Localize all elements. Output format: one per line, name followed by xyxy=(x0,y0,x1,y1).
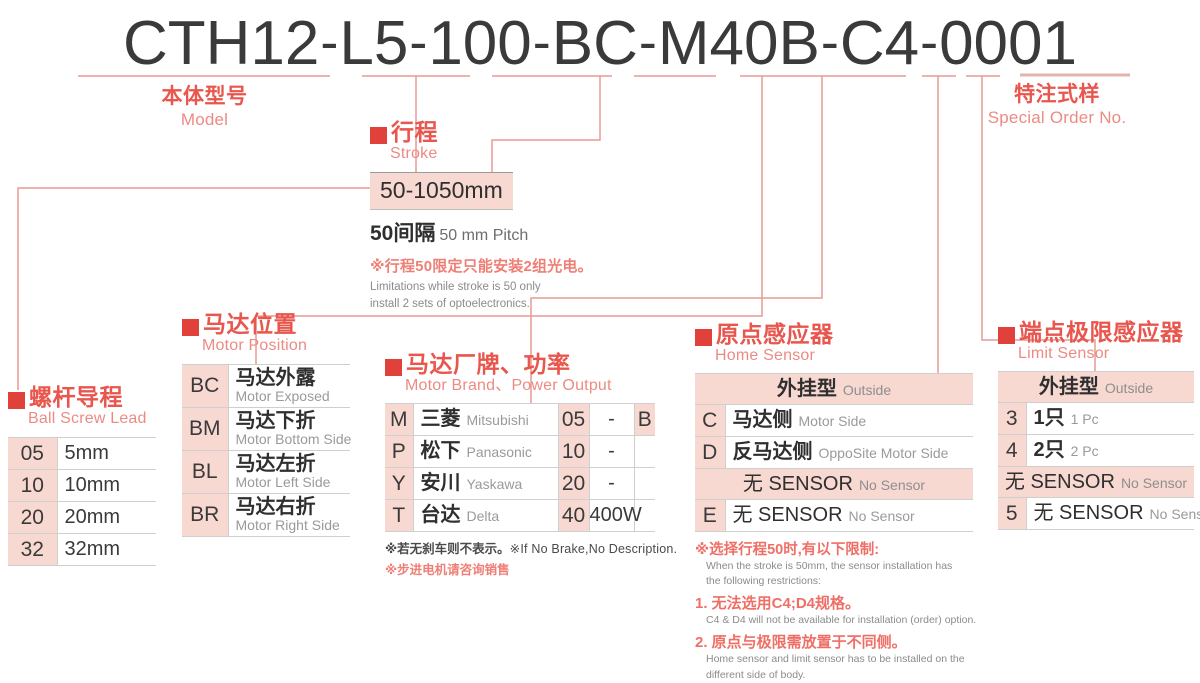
power-value-cell: - xyxy=(589,467,634,499)
brand-code-cell: M xyxy=(385,403,413,435)
section-stroke: 行程 Stroke 50-1050mm 50间隔50 mm Pitch ※行程5… xyxy=(370,120,593,314)
table-row: P 松下Panasonic 10 - xyxy=(385,435,655,467)
limit-sensor-code-cell: 4 xyxy=(998,434,1026,466)
limit-sensor-code-cell: 5 xyxy=(998,497,1026,529)
motor-position-table: BC 马达外露 Motor Exposed BM 马达下折 Motor Bott… xyxy=(182,364,350,537)
group-label-en: Outside xyxy=(1105,380,1153,396)
code-token-stroke: 100 xyxy=(428,9,531,78)
bullet-square-icon xyxy=(385,359,402,376)
brand-code-cell: T xyxy=(385,499,413,531)
section-motor-brand-title-en: Motor Brand、Power Output xyxy=(405,377,677,395)
motor-brand-footnote-1: ※若无刹车则不表示。※If No Brake,No Description. xyxy=(385,538,677,557)
table-row: BL 马达左折 Motor Left Side xyxy=(182,450,350,493)
lead-code-cell: 20 xyxy=(8,501,57,533)
section-motor-brand-heading: 马达厂牌、功率 xyxy=(385,352,677,376)
section-ball-screw-lead: 螺杆导程 Ball Screw Lead 05 5mm 10 10mm 20 2… xyxy=(8,385,156,566)
section-home-sensor-title-cn: 原点感应器 xyxy=(716,322,834,346)
table-row-group-header: 无 SENSORNo Sensor xyxy=(695,468,973,499)
code-separator: - xyxy=(820,12,840,72)
code-separator: - xyxy=(638,12,658,72)
table-row: 4 2只2 Pc xyxy=(998,434,1194,466)
group-label-cn: 无 SENSOR xyxy=(1005,471,1115,493)
group-label-en: No Sensor xyxy=(859,477,925,493)
power-value-cell: - xyxy=(589,435,634,467)
brand-name-cell: 松下Panasonic xyxy=(413,435,558,467)
limit-sensor-value-cell: 1只1 Pc xyxy=(1026,402,1194,434)
code-separator: - xyxy=(319,12,339,72)
lead-value-cell: 10mm xyxy=(57,469,156,501)
section-home-sensor-title-en: Home Sensor xyxy=(715,347,976,365)
limit-sensor-table: 外挂型Outside 3 1只1 Pc 4 2只2 Pc 无 SENSORNo … xyxy=(998,371,1194,530)
section-stroke-title-en: Stroke xyxy=(390,145,593,163)
stroke-note-cn: ※行程50限定只能安装2组光电。 xyxy=(370,255,593,276)
table-row-group-header: 外挂型Outside xyxy=(695,373,973,404)
code-separator: - xyxy=(919,12,939,72)
section-motor-position-title-cn: 马达位置 xyxy=(203,312,297,336)
motor-brand-footnote-2: ※步进电机请咨询销售 xyxy=(385,559,677,578)
section-limit-sensor-title-en: Limit Sensor xyxy=(1018,345,1194,363)
brand-name-cell: 三菱Mitsubishi xyxy=(413,403,558,435)
table-row: M 三菱Mitsubishi 05 - B xyxy=(385,403,655,435)
home-sensor-restriction-2-en-1: Home sensor and limit sensor has to be i… xyxy=(695,652,976,668)
lead-value-cell: 20mm xyxy=(57,501,156,533)
home-sensor-code-cell: D xyxy=(695,436,725,468)
bullet-square-icon xyxy=(998,327,1015,344)
power-code-cell: 10 xyxy=(558,435,589,467)
lead-code-cell: 32 xyxy=(8,533,57,565)
group-label-cn: 外挂型 xyxy=(777,378,837,400)
limit-sensor-group-nosensor: 无 SENSORNo Sensor xyxy=(998,466,1194,497)
power-code-cell: 20 xyxy=(558,467,589,499)
stroke-pitch-cn: 50间隔 xyxy=(370,222,435,245)
motor-position-code-cell: BR xyxy=(182,493,228,536)
section-motor-brand-title-cn: 马达厂牌、功率 xyxy=(406,352,571,376)
code-token-model: CTH12 xyxy=(123,9,319,78)
brand-name-cell: 台达Delta xyxy=(413,499,558,531)
code-token-lead: L5 xyxy=(339,9,408,78)
table-row: BR 马达右折 Motor Right Side xyxy=(182,493,350,536)
home-sensor-restriction-title-cn: ※选择行程50时,有以下限制: xyxy=(695,538,976,559)
home-sensor-restriction-2-cn: 2. 原点与极限需放置于不同侧。 xyxy=(695,631,976,652)
section-home-sensor: 原点感应器 Home Sensor 外挂型Outside C 马达侧Motor … xyxy=(695,322,976,683)
home-sensor-value-cell: 马达侧Motor Side xyxy=(725,404,973,436)
brand-code-cell: Y xyxy=(385,467,413,499)
lead-code-cell: 05 xyxy=(8,437,57,469)
brake-code-cell xyxy=(634,435,655,467)
lead-value-cell: 32mm xyxy=(57,533,156,565)
stroke-note-en-1: Limitations while stroke is 50 only xyxy=(370,279,593,297)
limit-sensor-code-cell: 3 xyxy=(998,402,1026,434)
code-separator: - xyxy=(408,12,428,72)
table-row: Y 安川Yaskawa 20 - xyxy=(385,467,655,499)
section-limit-sensor: 端点极限感应器 Limit Sensor 外挂型Outside 3 1只1 Pc xyxy=(998,320,1194,530)
lead-code-cell: 10 xyxy=(8,469,57,501)
code-token-motor-position: BC xyxy=(552,9,638,78)
ball-screw-lead-table: 05 5mm 10 10mm 20 20mm 32 32mm xyxy=(8,437,156,566)
stroke-note-en-2: install 2 sets of optoelectronics. xyxy=(370,296,593,314)
brake-code-cell xyxy=(634,467,655,499)
power-value-cell: 400W xyxy=(589,499,634,531)
table-row: T 台达Delta 40 400W xyxy=(385,499,655,531)
group-label-en: No Sensor xyxy=(1121,475,1187,491)
group-label-en: Outside xyxy=(843,382,891,398)
stroke-range-box: 50-1050mm xyxy=(370,172,593,210)
table-row: 20 20mm xyxy=(8,501,156,533)
table-row: E 无 SENSORNo Sensor xyxy=(695,499,973,531)
table-row: BC 马达外露 Motor Exposed xyxy=(182,364,350,407)
home-sensor-code-cell: E xyxy=(695,499,725,531)
section-stroke-title-cn: 行程 xyxy=(391,120,438,144)
motor-position-code-cell: BC xyxy=(182,364,228,407)
bullet-square-icon xyxy=(8,392,25,409)
table-row: C 马达侧Motor Side xyxy=(695,404,973,436)
table-row: D 反马达侧OppoSite Motor Side xyxy=(695,436,973,468)
callout-model-cn: 本体型号 xyxy=(112,86,297,108)
home-sensor-restriction-1-cn: 1. 无法选用C4;D4规格。 xyxy=(695,592,976,613)
motor-position-code-cell: BM xyxy=(182,407,228,450)
motor-position-value-cell: 马达右折 Motor Right Side xyxy=(228,493,350,536)
bullet-square-icon xyxy=(695,329,712,346)
section-motor-position-title-en: Motor Position xyxy=(202,337,350,355)
stroke-pitch: 50间隔50 mm Pitch xyxy=(370,217,593,247)
brake-code-cell: B xyxy=(634,403,655,435)
callout-special-order-cn: 特注式样 xyxy=(962,84,1152,106)
lead-value-cell: 5mm xyxy=(57,437,156,469)
section-motor-position-heading: 马达位置 xyxy=(182,312,350,336)
home-sensor-group-nosensor: 无 SENSORNo Sensor xyxy=(695,468,973,499)
section-limit-sensor-heading: 端点极限感应器 xyxy=(998,320,1194,344)
diagram-canvas: CTH12-L5-100-BC-M40B-C4-0001 本体型号 Model … xyxy=(0,0,1200,605)
power-code-cell: 05 xyxy=(558,403,589,435)
stroke-pitch-en: 50 mm Pitch xyxy=(439,227,528,244)
table-row: BM 马达下折 Motor Bottom Side xyxy=(182,407,350,450)
power-code-cell: 40 xyxy=(558,499,589,531)
callout-model-en: Model xyxy=(112,110,297,130)
table-row-group-header: 无 SENSORNo Sensor xyxy=(998,466,1194,497)
home-sensor-table: 外挂型Outside C 马达侧Motor Side D 反马达侧OppoSit… xyxy=(695,373,973,532)
section-ball-screw-lead-heading: 螺杆导程 xyxy=(8,385,156,409)
motor-position-code-cell: BL xyxy=(182,450,228,493)
code-separator: - xyxy=(532,12,552,72)
table-row: 32 32mm xyxy=(8,533,156,565)
callout-model: 本体型号 Model xyxy=(112,86,297,130)
section-ball-screw-lead-title-cn: 螺杆导程 xyxy=(29,385,123,409)
group-label-cn: 无 SENSOR xyxy=(743,473,853,495)
motor-brand-table: M 三菱Mitsubishi 05 - B P 松下Panasonic 10 -… xyxy=(385,403,655,532)
motor-position-value-cell: 马达下折 Motor Bottom Side xyxy=(228,407,350,450)
section-stroke-heading: 行程 xyxy=(370,120,593,144)
table-row: 10 10mm xyxy=(8,469,156,501)
motor-position-value-cell: 马达左折 Motor Left Side xyxy=(228,450,350,493)
home-sensor-group-outside: 外挂型Outside xyxy=(695,373,973,404)
brand-code-cell: P xyxy=(385,435,413,467)
home-sensor-restriction-1-en: C4 & D4 will not be available for instal… xyxy=(695,613,976,629)
home-sensor-restriction-title-en-1: When the stroke is 50mm, the sensor inst… xyxy=(695,559,976,575)
home-sensor-value-cell: 无 SENSORNo Sensor xyxy=(725,499,973,531)
section-ball-screw-lead-title-en: Ball Screw Lead xyxy=(28,410,156,428)
section-home-sensor-heading: 原点感应器 xyxy=(695,322,976,346)
motor-brand-footnote-1-en: ※If No Brake,No Description. xyxy=(510,542,678,556)
motor-position-value-cell: 马达外露 Motor Exposed xyxy=(228,364,350,407)
stroke-range-value: 50-1050mm xyxy=(370,172,513,210)
section-motor-position: 马达位置 Motor Position BC 马达外露 Motor Expose… xyxy=(182,312,350,537)
table-row-group-header: 外挂型Outside xyxy=(998,371,1194,402)
motor-brand-footnote-1-cn: ※若无刹车则不表示。 xyxy=(385,542,510,556)
code-token-home-sensor: C4 xyxy=(840,9,919,78)
home-sensor-restriction-title-en-2: the following restrictions: xyxy=(695,574,976,590)
brand-name-cell: 安川Yaskawa xyxy=(413,467,558,499)
limit-sensor-value-cell: 2只2 Pc xyxy=(1026,434,1194,466)
callout-special-order: 特注式样 Special Order No. xyxy=(962,84,1152,128)
bullet-square-icon xyxy=(182,319,199,336)
limit-sensor-value-cell: 无 SENSORNo Sensor xyxy=(1026,497,1194,529)
code-token-special-order: 0001 xyxy=(939,9,1077,78)
limit-sensor-group-outside: 外挂型Outside xyxy=(998,371,1194,402)
code-token-motor-brand: M40B xyxy=(658,9,820,78)
product-code: CTH12-L5-100-BC-M40B-C4-0001 xyxy=(0,8,1200,79)
table-row: 05 5mm xyxy=(8,437,156,469)
section-motor-brand: 马达厂牌、功率 Motor Brand、Power Output M 三菱Mit… xyxy=(385,352,677,578)
callout-special-order-en: Special Order No. xyxy=(962,108,1152,128)
table-row: 5 无 SENSORNo Sensor xyxy=(998,497,1194,529)
home-sensor-value-cell: 反马达侧OppoSite Motor Side xyxy=(725,436,973,468)
section-limit-sensor-title-cn: 端点极限感应器 xyxy=(1019,320,1184,344)
bullet-square-icon xyxy=(370,127,387,144)
group-label-cn: 外挂型 xyxy=(1039,376,1099,398)
home-sensor-code-cell: C xyxy=(695,404,725,436)
table-row: 3 1只1 Pc xyxy=(998,402,1194,434)
home-sensor-restriction-2-en-2: different side of body. xyxy=(695,668,976,683)
power-value-cell: - xyxy=(589,403,634,435)
